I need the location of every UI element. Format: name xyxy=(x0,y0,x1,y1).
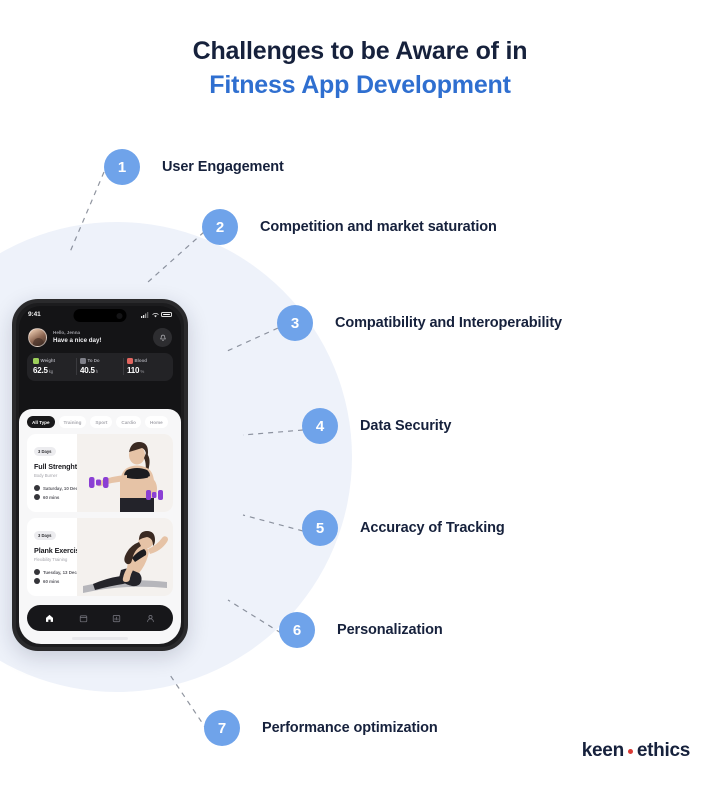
signal-icon xyxy=(141,312,149,318)
dynamic-island xyxy=(74,309,127,322)
workout-duration: 60 mins xyxy=(43,495,59,500)
stat-head: Weight xyxy=(33,358,73,364)
greeting-text: Hello, Jenna Have a nice day! xyxy=(53,330,102,345)
stat-cell-blood[interactable]: Blood 110% xyxy=(123,358,170,375)
challenge-number-badge: 7 xyxy=(204,710,240,746)
front-camera-icon xyxy=(117,313,123,319)
challenge-number-badge: 5 xyxy=(302,510,338,546)
workout-card[interactable]: 3 Days Plank Exercise Flexibility Traini… xyxy=(27,518,173,596)
title-line-primary: Challenges to be Aware of in xyxy=(0,36,720,66)
home-indicator xyxy=(72,637,128,640)
greeting-name: Hello, Jenna xyxy=(53,330,102,336)
logo-dot-icon xyxy=(628,749,633,754)
battery-icon xyxy=(161,312,172,318)
chip-home[interactable]: Home xyxy=(145,416,168,428)
filter-chips: All Type Training Sport Cardio Home xyxy=(19,416,181,428)
stat-number: 40.5 xyxy=(80,366,95,375)
wifi-icon xyxy=(152,312,159,318)
chart-icon[interactable] xyxy=(112,614,121,623)
page-title: Challenges to be Aware of in Fitness App… xyxy=(0,36,720,101)
stats-card: Weight 62.5kg To Do 40.5h xyxy=(27,353,173,381)
bottom-navigation xyxy=(27,605,173,631)
weight-icon xyxy=(33,358,39,364)
stat-head: To Do xyxy=(80,358,120,364)
content-sheet: All Type Training Sport Cardio Home xyxy=(19,409,181,644)
stat-number: 110 xyxy=(127,366,139,375)
challenge-label: Data Security xyxy=(360,418,451,434)
stat-cell-todo[interactable]: To Do 40.5h xyxy=(76,358,123,375)
blood-icon xyxy=(127,358,133,364)
challenge-label: Performance optimization xyxy=(262,720,438,736)
challenge-number-badge: 4 xyxy=(302,408,338,444)
challenge-number-badge: 1 xyxy=(104,149,140,185)
challenge-label: Accuracy of Tracking xyxy=(360,520,505,536)
woman-yoga-pose-photo xyxy=(77,518,173,596)
phone-mockup: 9:41 xyxy=(12,299,188,651)
days-badge: 3 Days xyxy=(34,447,56,456)
challenge-item-3[interactable]: 3 Compatibility and Interoperability xyxy=(277,305,562,341)
challenge-item-2[interactable]: 2 Competition and market saturation xyxy=(202,209,497,245)
brand-logo: keen ethics xyxy=(582,740,690,762)
challenge-number-badge: 3 xyxy=(277,305,313,341)
workout-list: 3 Days Full Strenght Body Burner Saturda… xyxy=(19,434,181,596)
stat-unit: h xyxy=(96,369,98,374)
stat-label: Weight xyxy=(41,358,56,363)
stat-value: 62.5kg xyxy=(33,366,73,375)
workout-card[interactable]: 3 Days Full Strenght Body Burner Saturda… xyxy=(27,434,173,512)
logo-text-ethics: ethics xyxy=(637,740,690,762)
greeting-message: Have a nice day! xyxy=(53,337,102,345)
workout-date: Saturday, 10 Dec xyxy=(43,486,78,491)
chip-training[interactable]: Training xyxy=(59,416,87,428)
calendar-icon xyxy=(34,569,40,575)
workout-date: Tuesday, 13 Dec xyxy=(43,570,77,575)
challenge-label: User Engagement xyxy=(162,159,284,175)
infographic-canvas: Challenges to be Aware of in Fitness App… xyxy=(0,0,720,794)
status-time: 9:41 xyxy=(28,311,41,318)
stat-label: To Do xyxy=(88,358,100,363)
home-icon[interactable] xyxy=(45,614,54,623)
challenge-number-badge: 6 xyxy=(279,612,315,648)
status-bar: 9:41 xyxy=(19,306,181,323)
stat-label: Blood xyxy=(135,358,147,363)
stat-number: 62.5 xyxy=(33,366,48,375)
challenge-item-1[interactable]: 1 User Engagement xyxy=(104,149,284,185)
greeting-row: Hello, Jenna Have a nice day! xyxy=(19,323,181,351)
calendar-icon[interactable] xyxy=(79,614,88,623)
stat-value: 110% xyxy=(127,366,167,375)
chip-sport[interactable]: Sport xyxy=(90,416,112,428)
clock-icon xyxy=(34,578,40,584)
stat-unit: % xyxy=(140,369,144,374)
challenge-item-6[interactable]: 6 Personalization xyxy=(279,612,443,648)
woman-with-dumbbells-photo xyxy=(77,434,173,512)
days-badge: 3 Days xyxy=(34,531,56,540)
calendar-icon xyxy=(34,485,40,491)
logo-text-keen: keen xyxy=(582,740,624,762)
phone-screen: 9:41 xyxy=(19,306,181,644)
stat-value: 40.5h xyxy=(80,366,120,375)
status-icons xyxy=(141,312,172,318)
todo-icon xyxy=(80,358,86,364)
challenge-label: Compatibility and Interoperability xyxy=(335,315,562,331)
stat-unit: kg xyxy=(49,369,53,374)
challenge-label: Competition and market saturation xyxy=(260,219,497,235)
challenge-number-badge: 2 xyxy=(202,209,238,245)
workout-duration: 60 mins xyxy=(43,579,59,584)
challenge-item-7[interactable]: 7 Performance optimization xyxy=(204,710,438,746)
chip-cardio[interactable]: Cardio xyxy=(116,416,141,428)
chip-all-type[interactable]: All Type xyxy=(27,416,55,428)
challenge-label: Personalization xyxy=(337,622,443,638)
avatar[interactable] xyxy=(28,328,47,347)
profile-icon[interactable] xyxy=(146,614,155,623)
challenge-item-4[interactable]: 4 Data Security xyxy=(302,408,451,444)
bell-icon[interactable] xyxy=(153,328,172,347)
stat-cell-weight[interactable]: Weight 62.5kg xyxy=(30,358,76,375)
stat-head: Blood xyxy=(127,358,167,364)
title-line-secondary: Fitness App Development xyxy=(0,69,720,101)
challenge-item-5[interactable]: 5 Accuracy of Tracking xyxy=(302,510,505,546)
clock-icon xyxy=(34,494,40,500)
